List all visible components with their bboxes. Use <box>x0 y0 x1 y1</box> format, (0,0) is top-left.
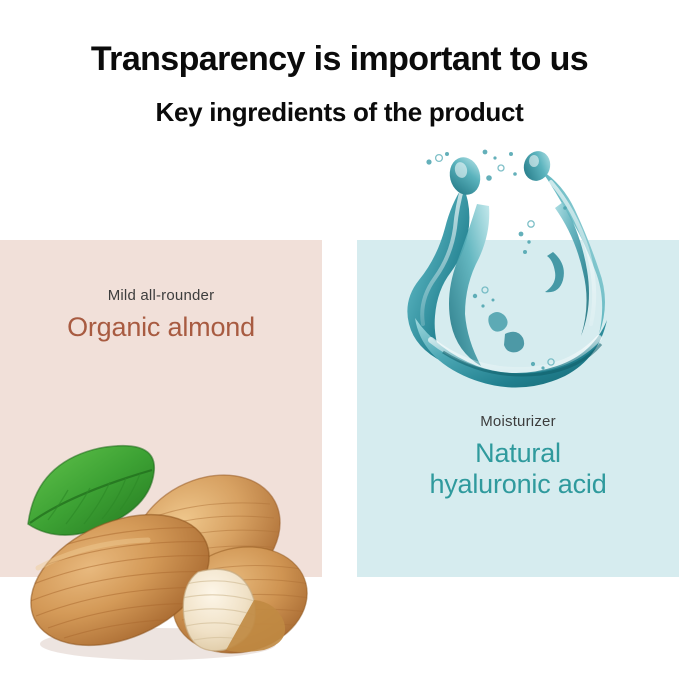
water-splash-illustration <box>385 148 620 393</box>
ingredient-eyebrow-hyaluronic: Moisturizer <box>357 412 679 432</box>
ingredient-name-almond: Organic almond <box>0 312 322 343</box>
caption-organic-almond: Mild all-rounder Organic almond <box>0 286 322 343</box>
almonds-illustration <box>8 432 328 672</box>
page-subtitle: Key ingredients of the product <box>0 99 679 126</box>
caption-hyaluronic-acid: Moisturizer Natural hyaluronic acid <box>357 412 679 500</box>
ingredient-name-hyaluronic-line2: hyaluronic acid <box>357 469 679 500</box>
ingredient-eyebrow-almond: Mild all-rounder <box>0 286 322 306</box>
ingredient-name-hyaluronic-line1: Natural <box>357 438 679 469</box>
page-title: Transparency is important to us <box>0 42 679 78</box>
header-block: Transparency is important to us Key ingr… <box>0 0 679 126</box>
